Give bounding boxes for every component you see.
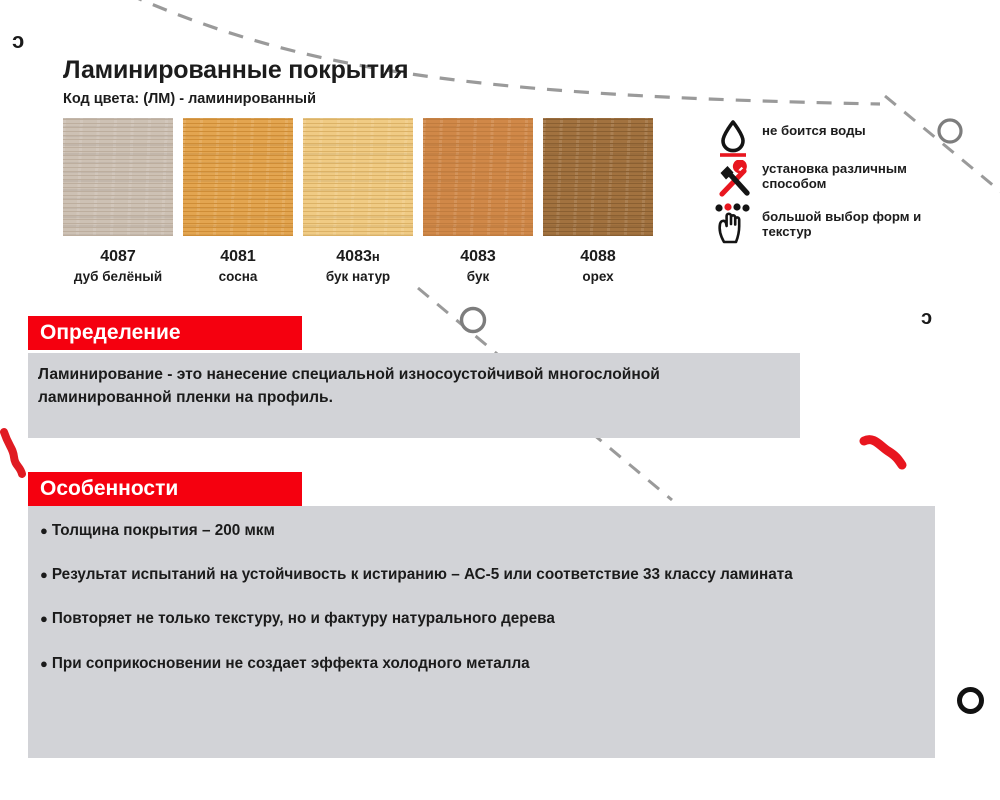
swatch-code: 4081 <box>183 248 293 266</box>
color-swatch[interactable]: 4083нбук натур <box>303 118 413 284</box>
swatch-code: 4087 <box>63 248 173 266</box>
color-swatch[interactable]: 4088орех <box>543 118 653 284</box>
swatch-chip <box>183 118 293 236</box>
arc-mark-top-left: c <box>12 30 24 52</box>
feature-list-item: ●Результат испытаний на устойчивость к и… <box>40 564 930 586</box>
page-subtitle: Код цвета: (ЛМ) - ламинированный <box>63 92 408 108</box>
benefit-item: большой выбор форм и текстур <box>714 202 974 240</box>
bullet-icon: ● <box>40 611 48 626</box>
swatch-name: бук натур <box>303 269 413 285</box>
benefit-label: большой выбор форм и текстур <box>762 202 974 240</box>
color-swatch[interactable]: 4081сосна <box>183 118 293 284</box>
bullet-icon: ● <box>40 523 48 538</box>
swatch-name: бук <box>423 269 533 285</box>
bullet-icon: ● <box>40 567 48 582</box>
definition-section-tab: Определение <box>28 316 302 350</box>
feature-text: Толщина покрытия – 200 мкм <box>52 522 275 539</box>
page-header: Ламинированные покрытия Код цвета: (ЛМ) … <box>63 57 408 107</box>
swatch-code: 4083 <box>423 248 533 266</box>
feature-list-item: ●Повторяет не только текстуру, но и факт… <box>40 608 930 630</box>
swatch-name: сосна <box>183 269 293 285</box>
water-drop-icon <box>714 118 754 158</box>
feature-text: При соприкосновении не создает эффекта х… <box>52 655 530 672</box>
tools-cross-icon <box>714 160 754 200</box>
features-list: ●Толщина покрытия – 200 мкм●Результат ис… <box>40 520 930 697</box>
benefit-label: не боится воды <box>762 118 974 139</box>
swatch-chip <box>63 118 173 236</box>
swatch-chip <box>303 118 413 236</box>
benefit-item: не боится воды <box>714 118 974 154</box>
color-swatch[interactable]: 4083бук <box>423 118 533 284</box>
swatch-name: дуб белёный <box>63 269 173 285</box>
feature-text: Результат испытаний на устойчивость к ис… <box>52 566 793 583</box>
hand-pointer-icon <box>714 202 754 242</box>
benefit-item: установка различным способом <box>714 160 974 196</box>
color-swatch[interactable]: 4087дуб белёный <box>63 118 173 284</box>
benefits-list: не боится воды установка различным сп <box>714 118 974 246</box>
features-section-tab: Особенности <box>28 472 302 506</box>
bullet-icon: ● <box>40 656 48 671</box>
feature-list-item: ●Толщина покрытия – 200 мкм <box>40 520 930 542</box>
page-title: Ламинированные покрытия <box>63 57 408 85</box>
swatch-chip <box>543 118 653 236</box>
definition-text: Ламинирование - это нанесение специально… <box>38 364 738 409</box>
benefit-label: установка различным способом <box>762 160 974 192</box>
poster-canvas: c c Ламинированные покрытия Код цвета: (… <box>0 0 1000 800</box>
swatch-chip <box>423 118 533 236</box>
swatch-name: орех <box>543 269 653 285</box>
swatch-code: 4083н <box>303 248 413 266</box>
ring-mark-bottom-right <box>957 687 984 714</box>
arc-mark-middle-right: c <box>921 308 932 328</box>
feature-list-item: ●При соприкосновении не создает эффекта … <box>40 653 930 675</box>
feature-text: Повторяет не только текстуру, но и факту… <box>52 610 555 627</box>
swatch-code: 4088 <box>543 248 653 266</box>
swatch-code-suffix: н <box>372 249 380 264</box>
